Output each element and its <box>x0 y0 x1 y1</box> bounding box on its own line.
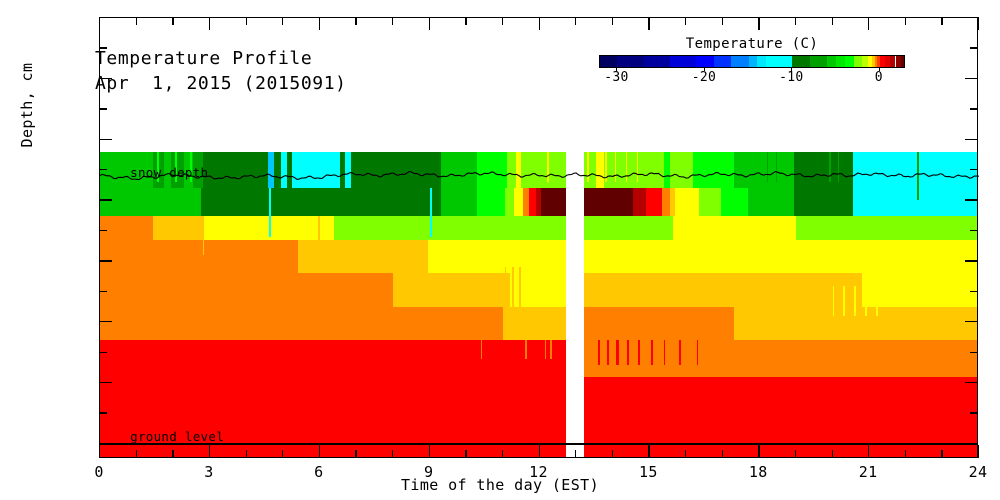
tick-mark <box>905 450 906 458</box>
tick-mark <box>99 321 112 322</box>
colorbar-segment <box>670 56 696 67</box>
tick-mark <box>965 78 978 79</box>
tick-mark <box>965 382 978 383</box>
heatmap-cell <box>794 188 853 215</box>
heatmap-stripe <box>776 152 777 182</box>
tick-mark <box>970 108 978 109</box>
y-axis-title: Depth, cm <box>18 40 36 170</box>
heatmap-cell <box>596 152 603 188</box>
colorbar-tick-label: -20 <box>692 70 716 85</box>
tick-mark <box>172 17 173 25</box>
tick-mark <box>99 17 112 18</box>
heatmap-cell <box>748 188 794 215</box>
tick-mark <box>99 230 107 231</box>
tick-mark <box>685 17 686 25</box>
heatmap-cell <box>393 273 510 306</box>
tick-mark <box>172 450 173 458</box>
heatmap-cell <box>477 188 504 215</box>
heatmap-cell <box>796 216 977 240</box>
heatmap-cell <box>100 240 298 273</box>
tick-mark <box>539 445 540 458</box>
heatmap-cell <box>853 188 977 215</box>
heatmap-cell <box>507 152 516 188</box>
heatmap-stripe <box>481 340 482 358</box>
heatmap-stripe <box>843 286 845 316</box>
colorbar-tick-label: 0 <box>875 70 883 85</box>
heatmap-stripe <box>876 286 877 316</box>
colorbar-title: Temperature (C) <box>599 36 905 52</box>
tick-mark <box>502 17 503 25</box>
heatmap-cell <box>699 188 721 215</box>
heatmap-cell <box>662 188 669 215</box>
heatmap-stripe <box>545 340 546 358</box>
heatmap-stripe <box>598 340 600 364</box>
colorbar-segment <box>766 56 783 67</box>
tick-mark <box>246 17 247 25</box>
heatmap-cell <box>646 188 662 215</box>
tick-mark <box>99 291 107 292</box>
heatmap-cell <box>274 152 281 188</box>
tick-mark <box>502 450 503 458</box>
tick-mark <box>99 412 107 413</box>
tick-mark <box>539 17 540 30</box>
heatmap-stripe <box>833 286 834 316</box>
heatmap-stripe <box>638 340 639 364</box>
heatmap-stripe <box>419 240 420 292</box>
colorbar-segment <box>854 56 863 67</box>
heatmap-stripe <box>854 286 855 316</box>
tick-mark <box>319 445 320 458</box>
tick-mark <box>970 47 978 48</box>
heatmap-cell <box>862 273 977 306</box>
heatmap-stripe <box>505 267 506 307</box>
tick-mark <box>941 450 942 458</box>
tick-mark <box>965 139 978 140</box>
heatmap-cell <box>584 273 862 306</box>
colorbar-segment <box>644 56 670 67</box>
tick-mark <box>99 352 107 353</box>
heatmap-cell <box>673 216 796 240</box>
tick-mark <box>355 450 356 458</box>
tick-mark <box>99 78 112 79</box>
colorbar-segment <box>901 56 905 67</box>
colorbar-segment <box>731 56 748 67</box>
heatmap-stripe <box>486 152 488 182</box>
tick-mark <box>941 17 942 25</box>
tick-mark <box>758 445 759 458</box>
colorbar-segment <box>827 56 836 67</box>
heatmap-stripe <box>525 340 527 358</box>
tick-mark <box>905 17 906 25</box>
tick-mark <box>868 445 869 458</box>
heatmap-stripe <box>547 152 549 182</box>
heatmap-stripe <box>430 188 431 237</box>
temperature-profile-figure: Temperature Profile Apr 1, 2015 (2015091… <box>0 0 1000 500</box>
heatmap-cell <box>584 307 733 340</box>
heatmap-cell <box>521 152 566 188</box>
heatmap-stripe <box>664 340 665 364</box>
tick-mark <box>355 17 356 25</box>
heatmap-stripe <box>679 340 681 364</box>
tick-mark <box>758 17 759 30</box>
tick-mark <box>392 450 393 458</box>
tick-mark <box>965 199 978 200</box>
tick-mark <box>832 17 833 25</box>
tick-mark <box>795 450 796 458</box>
tick-mark <box>282 450 283 458</box>
tick-mark <box>722 450 723 458</box>
heatmap-stripe <box>917 152 919 201</box>
tick-mark <box>99 47 107 48</box>
tick-mark <box>795 17 796 25</box>
colorbar-segment <box>617 56 643 67</box>
heatmap-cell <box>584 216 673 240</box>
tick-mark <box>429 17 430 30</box>
tick-mark <box>429 445 430 458</box>
heatmap-stripe <box>651 340 653 364</box>
x-axis-title: Time of the day (EST) <box>0 476 1000 494</box>
tick-mark <box>970 230 978 231</box>
heatmap-cell <box>584 340 977 376</box>
heatmap-stripe <box>512 267 514 307</box>
tick-mark <box>648 445 649 458</box>
heatmap-stripe <box>702 152 704 182</box>
tick-mark <box>965 443 978 444</box>
tick-mark <box>99 17 100 30</box>
heatmap-cell <box>584 240 977 273</box>
heatmap-cell <box>100 188 201 215</box>
heatmap-cell <box>201 188 441 215</box>
heatmap-stripe <box>203 216 204 256</box>
tick-mark <box>99 445 100 458</box>
colorbar-segment <box>810 56 827 67</box>
tick-mark <box>965 260 978 261</box>
heatmap-stripe <box>413 240 415 292</box>
heatmap-stripe <box>763 295 765 328</box>
heatmap-cell <box>604 152 664 188</box>
tick-mark <box>970 291 978 292</box>
heatmap-stripe <box>616 340 618 364</box>
snow-depth-label: snow depth <box>130 165 208 180</box>
tick-mark <box>246 450 247 458</box>
heatmap-cell <box>670 152 694 188</box>
tick-mark <box>575 17 576 25</box>
heatmap-cell <box>203 152 269 188</box>
tick-mark <box>965 17 978 18</box>
heatmap-stripe <box>627 340 629 364</box>
tick-mark <box>465 450 466 458</box>
colorbar-segment <box>836 56 845 67</box>
heatmap-cell <box>441 188 478 215</box>
heatmap-cell <box>100 307 503 340</box>
colorbar-segment <box>696 56 713 67</box>
heatmap-cell <box>100 340 566 376</box>
heatmap-cell <box>584 152 596 188</box>
heatmap-stripe <box>550 340 551 358</box>
heatmap-cell <box>477 152 506 188</box>
heatmap-cell <box>292 152 340 188</box>
heatmap-cell <box>100 216 153 240</box>
heatmap-cell <box>100 377 566 457</box>
heatmap-cell <box>794 152 853 188</box>
tick-mark <box>722 17 723 25</box>
tick-mark <box>970 169 978 170</box>
heatmap-cell <box>514 188 523 215</box>
tick-mark <box>648 17 649 30</box>
heatmap-stripe <box>816 295 818 328</box>
heatmap-cell <box>721 188 748 215</box>
heatmap-stripe <box>697 340 698 364</box>
tick-mark <box>978 17 979 30</box>
heatmap-cell <box>503 307 566 340</box>
tick-mark <box>99 443 112 444</box>
heatmap-cell <box>693 152 733 188</box>
tick-mark <box>99 169 107 170</box>
heatmap-stripe <box>800 295 801 328</box>
heatmap-stripe <box>829 152 831 182</box>
colorbar-tick-label: -30 <box>604 70 628 85</box>
colorbar-tick-label: -10 <box>779 70 803 85</box>
tick-mark <box>209 17 210 30</box>
colorbar-segment <box>792 56 809 67</box>
tick-mark <box>99 108 107 109</box>
heatmap-stripe <box>607 340 608 364</box>
heatmap-cell <box>633 188 646 215</box>
heatmap-cell <box>351 152 441 188</box>
heatmap-cell <box>529 188 536 215</box>
tick-mark <box>392 17 393 25</box>
tick-mark <box>970 352 978 353</box>
data-gap <box>567 18 583 457</box>
heatmap-stripe <box>519 267 520 307</box>
page-title: Temperature Profile Apr 1, 2015 (2015091… <box>95 46 347 96</box>
tick-mark <box>978 445 979 458</box>
tick-mark <box>465 17 466 25</box>
heatmap-stripe <box>865 286 867 316</box>
heatmap-cell <box>675 188 699 215</box>
heatmap-stripe <box>587 152 589 182</box>
tick-mark <box>99 260 112 261</box>
tick-mark <box>136 17 137 25</box>
heatmap-cell <box>584 377 977 457</box>
tick-mark <box>970 412 978 413</box>
colorbar-segment <box>714 56 731 67</box>
heatmap-stripe <box>615 152 617 182</box>
ground-level-label: ground level <box>130 429 224 444</box>
tick-mark <box>965 321 978 322</box>
heatmap-cell <box>153 216 204 240</box>
tick-mark <box>282 17 283 25</box>
tick-mark <box>319 17 320 30</box>
tick-mark <box>99 382 112 383</box>
heatmap-stripe <box>774 295 775 328</box>
heatmap-stripe <box>637 152 639 182</box>
heatmap-cell <box>541 188 566 215</box>
tick-mark <box>575 450 576 458</box>
tick-mark <box>99 199 112 200</box>
colorbar-segment <box>845 56 854 67</box>
heatmap-cell <box>441 152 478 188</box>
tick-mark <box>612 17 613 25</box>
tick-mark <box>685 450 686 458</box>
heatmap-stripe <box>838 152 839 182</box>
tick-mark <box>209 445 210 458</box>
heatmap-cell <box>505 188 514 215</box>
heatmap-stripe <box>318 216 320 256</box>
heatmap-cell <box>584 188 633 215</box>
tick-mark <box>832 450 833 458</box>
colorbar-segment <box>600 56 617 67</box>
colorbar-segment <box>784 56 793 67</box>
heatmap-cell <box>853 152 977 188</box>
colorbar-tick-labels: -30-20-100 <box>599 68 905 84</box>
colorbar-segment <box>757 56 766 67</box>
tick-mark <box>868 17 869 30</box>
colorbar: Temperature (C) -30-20-100 <box>599 36 905 84</box>
heatmap-stripe <box>626 152 627 182</box>
heatmap-stripe <box>269 188 271 237</box>
heatmap-stripe <box>787 295 789 328</box>
tick-mark <box>136 450 137 458</box>
colorbar-gradient <box>599 55 905 68</box>
heatmap-cell <box>734 152 794 188</box>
tick-mark <box>99 139 112 140</box>
heatmap-cell <box>100 273 393 306</box>
tick-mark <box>612 450 613 458</box>
heatmap-cell <box>334 216 565 240</box>
heatmap-cell <box>428 240 566 273</box>
colorbar-segment <box>749 56 758 67</box>
heatmap-stripe <box>767 152 769 182</box>
heatmap-stripe <box>605 152 606 182</box>
